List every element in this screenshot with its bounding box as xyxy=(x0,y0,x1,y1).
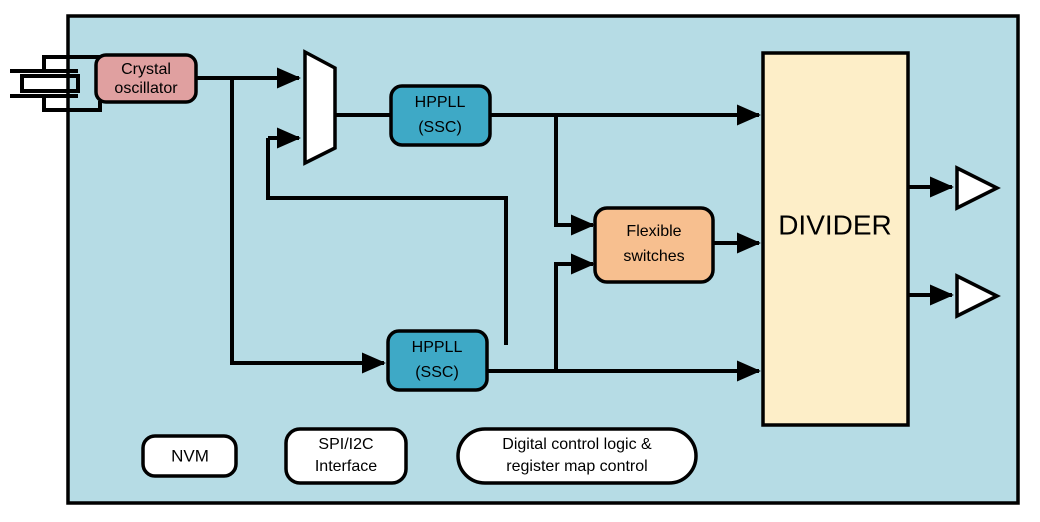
crystal-oscillator-label-line2: oscillator xyxy=(114,80,178,97)
block-diagram-canvas: Crystal oscillator HPPLL (SSC) HPPLL xyxy=(0,0,1040,522)
flexible-switches-label-line2: switches xyxy=(623,248,684,265)
digital-control-label-line2: register map control xyxy=(506,458,647,475)
divider-block[interactable]: DIVIDER xyxy=(763,53,908,425)
hppll-top-label-line2: (SSC) xyxy=(418,119,462,136)
hppll-bottom-label-line2: (SSC) xyxy=(415,364,459,381)
divider-label: DIVIDER xyxy=(778,209,892,240)
crystal-oscillator-label-line1: Crystal xyxy=(121,61,171,78)
digital-control-label-line1: Digital control logic & xyxy=(502,436,652,453)
nvm-label: NVM xyxy=(171,446,209,465)
crystal-oscillator-block[interactable]: Crystal oscillator xyxy=(96,55,196,102)
spi-i2c-interface-block[interactable]: SPI/I2C Interface xyxy=(286,429,406,483)
digital-control-logic-block[interactable]: Digital control logic & register map con… xyxy=(458,429,696,483)
hppll-bottom-block[interactable]: HPPLL (SSC) xyxy=(388,331,487,390)
spi-i2c-label-line1: SPI/I2C xyxy=(318,436,373,453)
flexible-switches-label-line1: Flexible xyxy=(626,223,681,240)
hppll-top-label-line1: HPPLL xyxy=(415,94,466,111)
flexible-switches-block[interactable]: Flexible switches xyxy=(595,208,713,282)
hppll-top-block[interactable]: HPPLL (SSC) xyxy=(391,86,490,145)
nvm-block[interactable]: NVM xyxy=(143,436,236,476)
hppll-bottom-label-line1: HPPLL xyxy=(412,339,463,356)
mux-trapezoid-icon[interactable] xyxy=(305,52,335,163)
spi-i2c-label-line2: Interface xyxy=(315,458,377,475)
